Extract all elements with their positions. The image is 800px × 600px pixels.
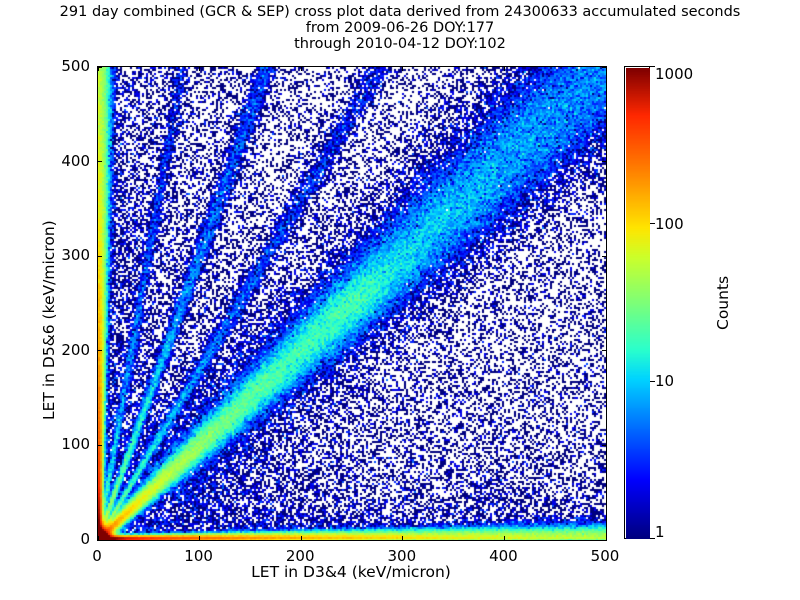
- y-tick-right-100: [602, 445, 606, 446]
- colorbar[interactable]: 1101001000: [624, 66, 650, 539]
- y-tick-label-400: 400: [61, 152, 90, 170]
- plot-area[interactable]: [97, 66, 607, 541]
- y-tick-300: [98, 256, 102, 257]
- x-tick-labels: 0100200300400500: [97, 540, 605, 541]
- x-tick-top-200: [301, 67, 302, 71]
- y-tick-label-500: 500: [61, 57, 90, 75]
- y-tick-label-100: 100: [61, 435, 90, 453]
- y-tick-right-400: [602, 161, 606, 162]
- title-line-3: through 2010-04-12 DOY:102: [0, 36, 800, 52]
- figure-canvas: 291 day combined (GCR & SEP) cross plot …: [0, 0, 800, 600]
- y-axis-label: LET in D5&6 (keV/micron): [40, 220, 58, 420]
- colorbar-tick-label-100: 100: [655, 215, 684, 233]
- colorbar-tick-label-1: 1: [655, 523, 665, 541]
- y-tick-label-200: 200: [61, 341, 90, 359]
- x-tick-top-300: [402, 67, 403, 71]
- y-tick-label-300: 300: [61, 246, 90, 264]
- y-tick-100: [98, 445, 102, 446]
- x-tick-top-500: [606, 67, 607, 71]
- colorbar-gradient: [624, 66, 650, 539]
- x-tick-top-400: [504, 67, 505, 71]
- y-tick-right-500: [602, 67, 606, 68]
- y-tick-right-300: [602, 256, 606, 257]
- y-tick-500: [98, 67, 102, 68]
- colorbar-label: Counts: [714, 276, 732, 330]
- colorbar-tick-label-10: 10: [655, 372, 674, 390]
- heatmap-canvas: [98, 67, 606, 540]
- title-line-2: from 2009-06-26 DOY:177: [0, 20, 800, 36]
- y-tick-200: [98, 350, 102, 351]
- x-tick-top-0: [98, 67, 99, 71]
- x-axis-label: LET in D3&4 (keV/micron): [97, 563, 605, 581]
- x-tick-top-100: [199, 67, 200, 71]
- title-line-1: 291 day combined (GCR & SEP) cross plot …: [0, 4, 800, 20]
- y-tick-right-200: [602, 350, 606, 351]
- y-tick-label-0: 0: [80, 530, 90, 548]
- colorbar-tick-label-1000: 1000: [655, 65, 693, 83]
- y-tick-400: [98, 161, 102, 162]
- colorbar-canvas: [626, 68, 650, 539]
- chart-title: 291 day combined (GCR & SEP) cross plot …: [0, 4, 800, 53]
